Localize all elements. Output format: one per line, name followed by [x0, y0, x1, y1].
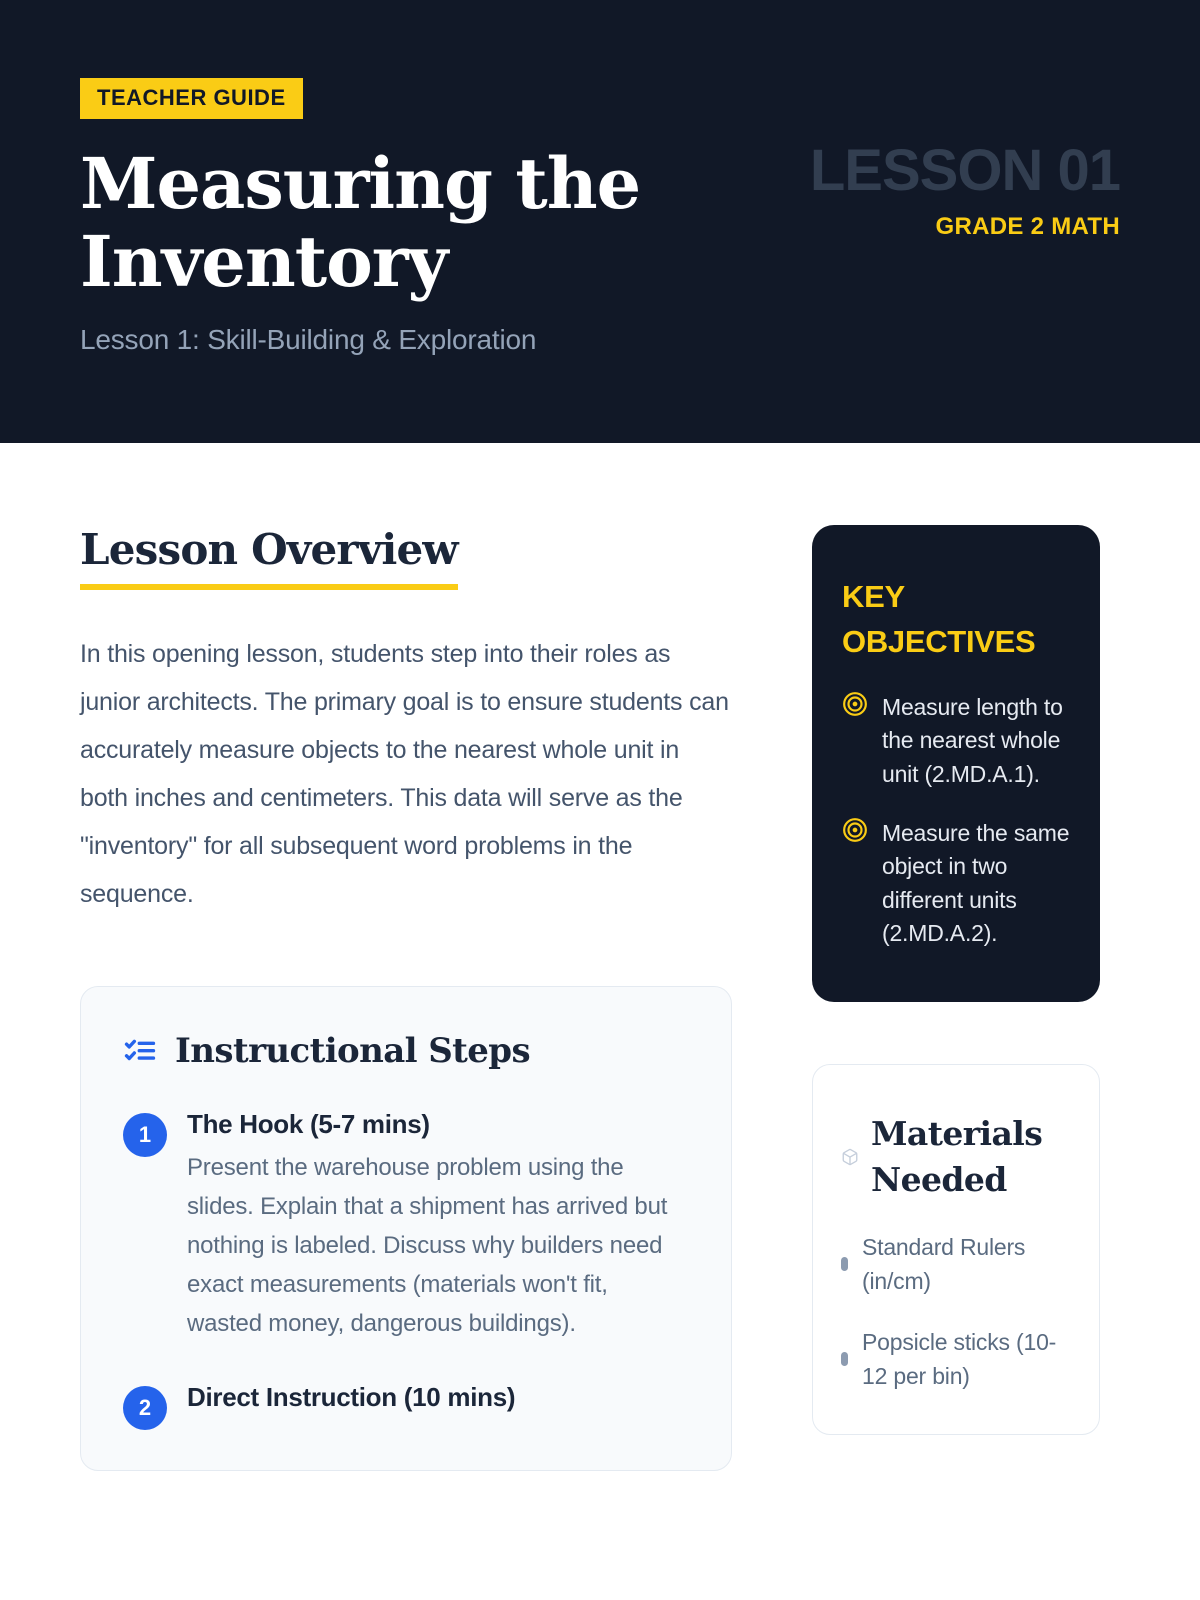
instructional-steps-header: Instructional Steps: [123, 1031, 689, 1071]
side-column: KEY OBJECTIVES Measure length to the nea…: [812, 443, 1100, 1435]
lesson-number: LESSON 01: [790, 140, 1120, 201]
teacher-guide-badge: TEACHER GUIDE: [80, 78, 303, 119]
target-icon: [842, 691, 868, 791]
step-number-badge: 1: [123, 1113, 167, 1157]
header-meta: LESSON 01 GRADE 2 MATH: [790, 140, 1120, 241]
main-column: Lesson Overview In this opening lesson, …: [80, 443, 732, 1471]
step-item: 1 The Hook (5-7 mins) Present the wareho…: [123, 1109, 689, 1344]
objective-text: Measure length to the nearest whole unit…: [882, 691, 1070, 791]
page-subtitle: Lesson 1: Skill-Building & Exploration: [80, 324, 1120, 356]
material-text: Popsicle sticks (10-12 per bin): [862, 1325, 1071, 1394]
objective-item: Measure the same object in two different…: [842, 817, 1070, 950]
grade-tag: GRADE 2 MATH: [790, 213, 1120, 241]
materials-needed-card: Materials Needed Standard Rulers (in/cm)…: [812, 1064, 1100, 1434]
bullet-icon: [841, 1257, 848, 1271]
step-title: The Hook (5-7 mins): [187, 1109, 689, 1140]
step-description: Present the warehouse problem using the …: [187, 1148, 689, 1344]
page-title: Measuring the Inventory: [80, 145, 720, 302]
material-item: Popsicle sticks (10-12 per bin): [841, 1325, 1071, 1394]
materials-needed-header: Materials Needed: [841, 1111, 1071, 1203]
material-item: Standard Rulers (in/cm): [841, 1230, 1071, 1299]
materials-needed-title: Materials Needed: [871, 1111, 1071, 1203]
target-icon: [842, 817, 868, 950]
bullet-icon: [841, 1352, 848, 1366]
step-item: 2 Direct Instruction (10 mins): [123, 1382, 689, 1430]
step-content: Direct Instruction (10 mins): [187, 1382, 689, 1430]
lesson-overview-text: In this opening lesson, students step in…: [80, 630, 732, 918]
list-check-icon: [123, 1034, 157, 1068]
key-objectives-title: KEY OBJECTIVES: [842, 575, 1070, 665]
objective-text: Measure the same object in two different…: [882, 817, 1070, 950]
lesson-overview-heading: Lesson Overview: [80, 525, 458, 590]
box-icon: [841, 1148, 859, 1166]
objective-item: Measure length to the nearest whole unit…: [842, 691, 1070, 791]
step-title: Direct Instruction (10 mins): [187, 1382, 689, 1413]
page-body: Lesson Overview In this opening lesson, …: [0, 443, 1200, 1471]
instructional-steps-title: Instructional Steps: [175, 1031, 530, 1071]
key-objectives-card: KEY OBJECTIVES Measure length to the nea…: [812, 525, 1100, 1002]
material-text: Standard Rulers (in/cm): [862, 1230, 1071, 1299]
step-number-badge: 2: [123, 1386, 167, 1430]
step-content: The Hook (5-7 mins) Present the warehous…: [187, 1109, 689, 1344]
instructional-steps-card: Instructional Steps 1 The Hook (5-7 mins…: [80, 986, 732, 1471]
page-header: TEACHER GUIDE Measuring the Inventory Le…: [0, 0, 1200, 443]
